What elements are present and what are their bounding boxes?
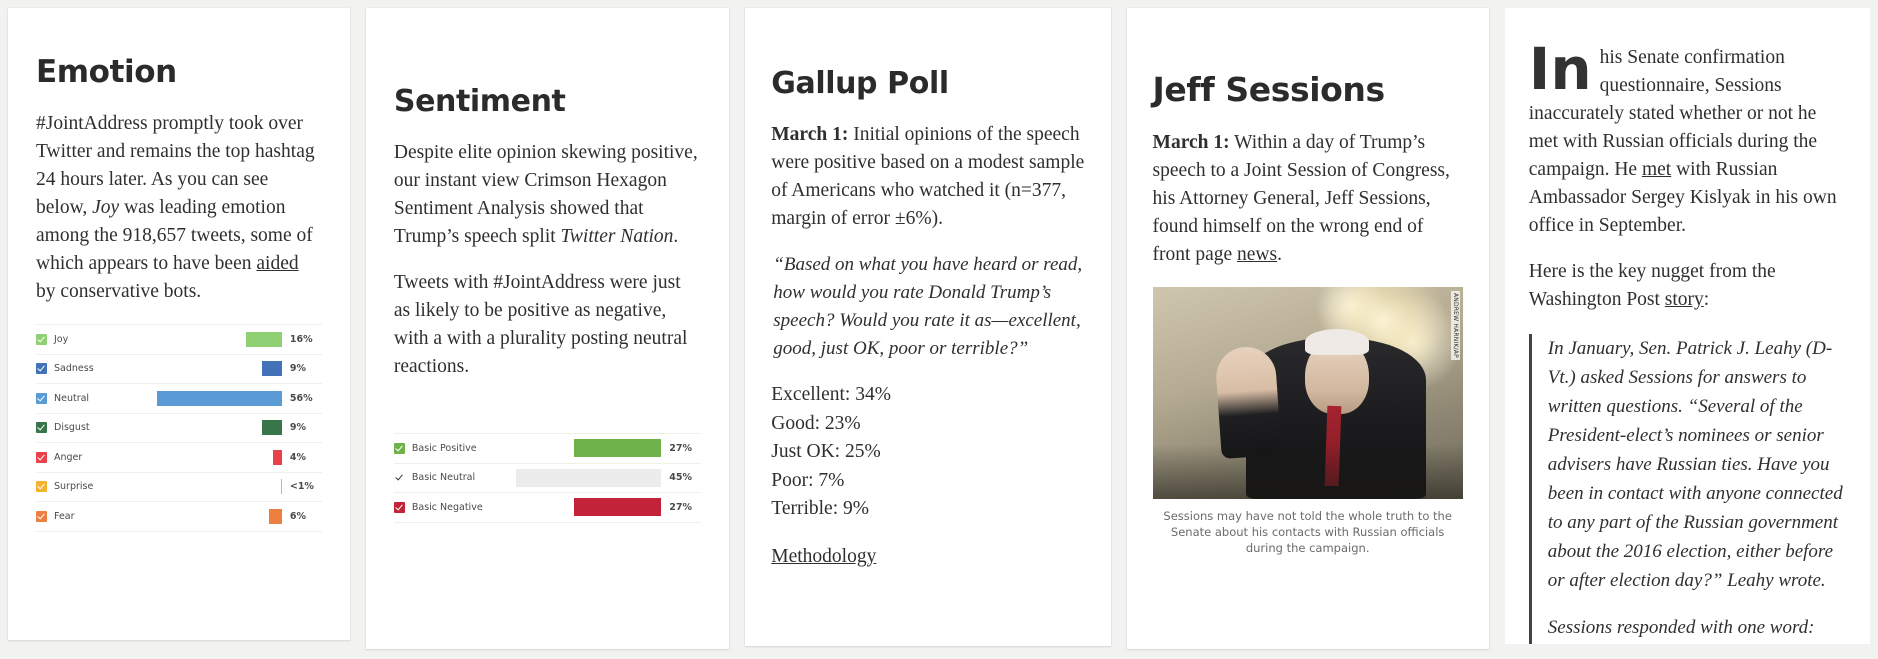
chart-bar-track — [144, 473, 286, 502]
chart-value-label: 45% — [665, 472, 701, 483]
checkbox-checked-icon[interactable] — [36, 422, 47, 433]
photo-raised-hand-shape — [1214, 345, 1282, 459]
card-washington-post-excerpt: In his Senate confirmation questionnaire… — [1505, 8, 1870, 644]
chart-bar — [262, 420, 282, 435]
chart-category-name: Sadness — [54, 363, 94, 374]
chart-value-label: <1% — [286, 481, 322, 492]
chart-bar — [262, 361, 282, 376]
gallup-result-row: Good: 23% — [771, 410, 1084, 439]
gallup-result-row: Just OK: 25% — [771, 438, 1084, 467]
chart-value-label: 27% — [665, 443, 701, 454]
chart-category-name: Fear — [54, 511, 75, 522]
drop-cap: In — [1529, 46, 1592, 92]
chart-row-label: Neutral — [36, 393, 144, 404]
chart-row-label: Basic Negative — [394, 502, 510, 513]
photo-credit: ANDREW HARNIK/AP — [1451, 291, 1460, 360]
chart-row-label: Surprise — [36, 481, 144, 492]
photo-floor-shade — [1153, 444, 1463, 499]
emotion-bar-chart: Joy16%Sadness9%Neutral56%Disgust9%Anger4… — [36, 324, 322, 532]
checkbox-checked-icon[interactable] — [394, 502, 405, 513]
checkbox-checked-icon[interactable] — [36, 363, 47, 374]
checkbox-checked-icon[interactable] — [394, 443, 405, 454]
emotion-text-post: by conservative bots. — [36, 281, 201, 302]
chart-row[interactable]: Anger4% — [36, 443, 322, 473]
page-title-sessions: Jeff Sessions — [1153, 70, 1463, 109]
sessions-photo-wrapper: ANDREW HARNIK/AP — [1153, 287, 1463, 499]
chart-value-label: 6% — [286, 511, 322, 522]
chart-row[interactable]: Surprise<1% — [36, 473, 322, 503]
chart-bar — [574, 439, 661, 457]
chart-row[interactable]: Disgust9% — [36, 414, 322, 444]
chart-category-name: Joy — [54, 334, 68, 345]
chart-category-name: Neutral — [54, 393, 89, 404]
chart-value-label: 9% — [286, 363, 322, 374]
wapo-blockquote: In January, Sen. Patrick J. Leahy (D-Vt.… — [1529, 334, 1844, 644]
chart-value-label: 27% — [665, 502, 701, 513]
chart-row[interactable]: Joy16% — [36, 324, 322, 355]
gallup-result-row: Terrible: 9% — [771, 495, 1084, 524]
card-sentiment: Sentiment Despite elite opinion skewing … — [366, 8, 729, 649]
chart-row-label: Anger — [36, 452, 144, 463]
chart-row-label: Basic Positive — [394, 443, 510, 454]
page-title-sentiment: Sentiment — [394, 84, 701, 119]
sentiment-p1-post: . — [673, 226, 678, 247]
chart-category-name: Basic Negative — [412, 502, 483, 513]
chart-value-label: 56% — [286, 393, 322, 404]
photo-caption: Sessions may have not told the whole tru… — [1153, 508, 1463, 556]
wapo-paragraph-1: In his Senate confirmation questionnaire… — [1529, 44, 1844, 240]
card-emotion: Emotion #JointAddress promptly took over… — [8, 8, 350, 640]
chart-row[interactable]: Neutral56% — [36, 384, 322, 414]
emotion-paragraph: #JointAddress promptly took over Twitter… — [36, 110, 322, 306]
chart-bar-track — [144, 384, 286, 413]
chart-bar — [269, 509, 282, 524]
sessions-lede: March 1: Within a day of Trump’s speech … — [1153, 129, 1463, 269]
story-link[interactable]: story — [1665, 289, 1704, 310]
sessions-photo — [1153, 287, 1463, 499]
chart-category-name: Basic Neutral — [412, 472, 475, 483]
aided-link[interactable]: aided — [256, 253, 298, 274]
checkbox-checked-icon[interactable] — [394, 472, 405, 483]
chart-bar-track — [144, 325, 286, 354]
checkbox-checked-icon[interactable] — [36, 393, 47, 404]
chart-row-label: Sadness — [36, 363, 144, 374]
chart-row[interactable]: Basic Positive27% — [394, 433, 701, 464]
gallup-results-list: Excellent: 34%Good: 23%Just OK: 25%Poor:… — [771, 381, 1084, 524]
page-title-emotion: Emotion — [36, 54, 322, 90]
gallup-lede: March 1: Initial opinions of the speech … — [771, 121, 1084, 233]
chart-row[interactable]: Fear6% — [36, 502, 322, 532]
chart-bar-track — [510, 493, 665, 522]
chart-value-label: 9% — [286, 422, 322, 433]
card-board: Emotion #JointAddress promptly took over… — [0, 0, 1878, 659]
wapo-quote-paragraph-1: In January, Sen. Patrick J. Leahy (D-Vt.… — [1548, 334, 1844, 595]
photo-hair-shape — [1305, 329, 1369, 355]
chart-bar-track — [510, 434, 665, 463]
chart-bar — [246, 332, 282, 347]
checkbox-checked-icon[interactable] — [36, 452, 47, 463]
checkbox-checked-icon[interactable] — [36, 334, 47, 345]
wapo-p2-post: : — [1704, 289, 1709, 310]
chart-row[interactable]: Basic Negative27% — [394, 493, 701, 523]
chart-row-label: Fear — [36, 511, 144, 522]
chart-row[interactable]: Sadness9% — [36, 355, 322, 385]
page-title-gallup: Gallup Poll — [771, 66, 1084, 101]
chart-bar — [273, 450, 282, 465]
chart-bar — [516, 469, 661, 487]
chart-bar-track — [144, 355, 286, 384]
gallup-result-row: Excellent: 34% — [771, 381, 1084, 410]
chart-row-label: Basic Neutral — [394, 472, 510, 483]
wapo-p2-pre: Here is the key nugget from the Washingt… — [1529, 261, 1776, 310]
chart-bar — [574, 498, 661, 516]
chart-category-name: Disgust — [54, 422, 90, 433]
sentiment-paragraph-2: Tweets with #JointAddress were just as l… — [394, 269, 701, 381]
chart-category-name: Anger — [54, 452, 82, 463]
sessions-date-label: March 1: — [1153, 132, 1230, 153]
chart-category-name: Surprise — [54, 481, 93, 492]
sentiment-p1-emphasis: Twitter Nation — [561, 226, 674, 247]
wapo-quote-paragraph-2: Sessions responded with one word: “No.” — [1548, 613, 1844, 644]
card-gallup-poll: Gallup Poll March 1: Initial opinions of… — [745, 8, 1110, 646]
checkbox-checked-icon[interactable] — [36, 481, 47, 492]
news-link[interactable]: news — [1237, 244, 1277, 265]
gallup-question-quote: “Based on what you have heard or read, h… — [771, 251, 1084, 363]
chart-row[interactable]: Basic Neutral45% — [394, 464, 701, 494]
chart-row-label: Joy — [36, 334, 144, 345]
met-link[interactable]: met — [1642, 159, 1671, 180]
gallup-date-label: March 1: — [771, 124, 848, 145]
chart-bar — [281, 479, 282, 494]
chart-category-name: Basic Positive — [412, 443, 477, 454]
methodology-link[interactable]: Methodology — [771, 546, 876, 568]
chart-bar-track — [144, 443, 286, 472]
chart-bar — [157, 391, 282, 406]
sentiment-bar-chart: Basic Positive27%Basic Neutral45%Basic N… — [394, 433, 701, 523]
chart-row-label: Disgust — [36, 422, 144, 433]
wapo-paragraph-2: Here is the key nugget from the Washingt… — [1529, 258, 1844, 314]
chart-bar-track — [144, 414, 286, 443]
chart-bar-track — [510, 464, 665, 493]
sessions-lede-end: . — [1277, 244, 1282, 265]
chart-value-label: 4% — [286, 452, 322, 463]
checkbox-checked-icon[interactable] — [36, 511, 47, 522]
gallup-result-row: Poor: 7% — [771, 467, 1084, 496]
emotion-text-emphasis: Joy — [92, 197, 119, 218]
card-jeff-sessions: Jeff Sessions March 1: Within a day of T… — [1127, 8, 1489, 649]
chart-bar-track — [144, 502, 286, 531]
sentiment-paragraph-1: Despite elite opinion skewing positive, … — [394, 139, 701, 251]
chart-value-label: 16% — [286, 334, 322, 345]
